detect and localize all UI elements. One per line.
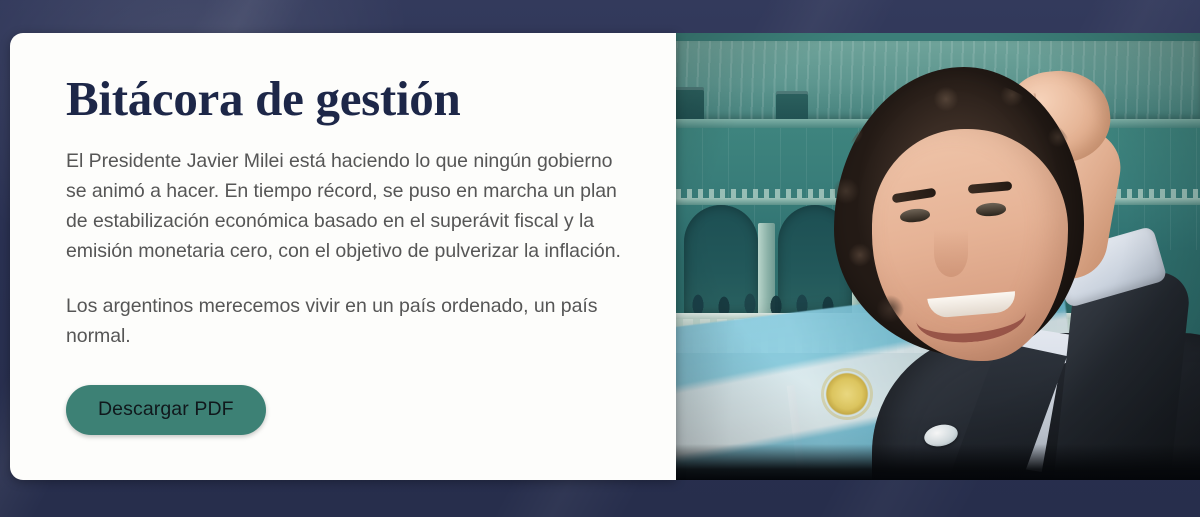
page-title: Bitácora de gestión <box>66 73 624 124</box>
hero-paragraph-1: El Presidente Javier Milei está haciendo… <box>66 146 624 266</box>
page-root: Bitácora de gestión El Presidente Javier… <box>0 0 1200 517</box>
hero-button-row: Descargar PDF <box>66 385 624 435</box>
photo-bottom-shadow <box>676 444 1200 480</box>
hero-banner: Bitácora de gestión El Presidente Javier… <box>10 33 1200 480</box>
hero-paragraph-2: Los argentinos merecemos vivir en un paí… <box>66 291 624 351</box>
hero-text-card: Bitácora de gestión El Presidente Javier… <box>10 33 676 480</box>
photo-vignette <box>676 33 1200 480</box>
download-pdf-button[interactable]: Descargar PDF <box>66 385 266 435</box>
hero-photo <box>676 33 1200 480</box>
